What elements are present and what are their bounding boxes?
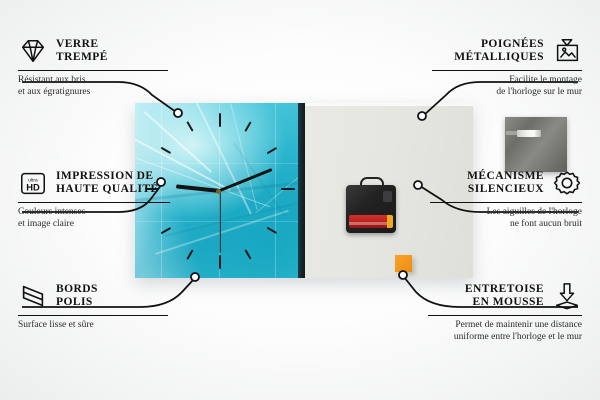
hands-center-pin (216, 189, 221, 194)
feature-desc-line1: Résistant aux bris (18, 75, 86, 85)
gear-icon (552, 168, 582, 198)
feature-desc-line1: Couleurs intenses (18, 207, 85, 217)
divider (432, 70, 582, 71)
ultra-hd-badge-icon: ultra HD (18, 168, 48, 198)
feature-desc-line1: Surface lisse et sûre (18, 320, 94, 330)
divider (18, 315, 168, 316)
diamond-icon (18, 36, 48, 66)
second-hand (219, 191, 220, 253)
wall-mount-bracket-icon (552, 36, 582, 66)
feature-title-line2: TREMPÉ (56, 51, 108, 63)
minute-hand (219, 168, 272, 192)
feature-desc-line2: et image claire (18, 219, 74, 229)
divider (430, 202, 582, 203)
infographic-canvas: VERRE TREMPÉ Résistant aux bris et aux é… (0, 0, 600, 400)
glass-edge (298, 103, 305, 278)
feature-title-line1: POIGNÉES (481, 38, 544, 50)
polished-edge-lines-icon (18, 281, 48, 311)
feature-title-line1: VERRE (56, 38, 99, 50)
svg-text:HD: HD (26, 183, 40, 193)
feature-desc-line2: et aux égratignures (18, 87, 90, 97)
metal-hanging-bracket (505, 117, 567, 172)
feature-title-line2: HAUTE QUALITÉ (56, 183, 159, 195)
mechanism-adjust-knob (383, 191, 392, 202)
feature-mecanisme-silencieux: MÉCANISME SILENCIEUX Les aiguilles de l'… (430, 168, 582, 230)
divider (428, 315, 582, 316)
feature-title-line1: BORDS (56, 283, 98, 295)
feature-title-line2: POLIS (56, 296, 93, 308)
foam-spacer (395, 255, 412, 272)
divider (18, 70, 168, 71)
product-image (135, 103, 473, 278)
hour-hand (176, 184, 220, 193)
feature-desc-line2: uniforme entre l'horloge et le mur (454, 332, 582, 342)
feature-title-line2: EN MOUSSE (473, 296, 544, 308)
feature-impression-haute-qualite: ultra HD IMPRESSION DE HAUTE QUALITÉ Cou… (18, 168, 170, 230)
feature-desc-line2: ne font aucun bruit (510, 219, 582, 229)
foam-spacer-arrow-icon (552, 281, 582, 311)
feature-desc-line1: Permet de maintenir une distance (455, 320, 582, 330)
feature-title-line1: MÉCANISME (467, 170, 544, 182)
divider (18, 202, 170, 203)
feature-title-line2: SILENCIEUX (468, 183, 544, 195)
feature-bords-polis: BORDS POLIS Surface lisse et sûre (18, 281, 168, 332)
feature-desc-line2: de l'horloge sur le mur (496, 87, 582, 97)
feature-title-line2: MÉTALLIQUES (454, 51, 544, 63)
feature-desc-line1: Facilite le montage (509, 75, 582, 85)
feature-title-line1: ENTRETOISE (465, 283, 544, 295)
feature-title-line1: IMPRESSION DE (56, 170, 154, 182)
bracket-slot (517, 130, 541, 137)
feature-desc-line1: Les aiguilles de l'horloge (487, 207, 582, 217)
feature-entretoise-en-mousse: ENTRETOISE EN MOUSSE Permet de maintenir… (428, 281, 582, 343)
feature-verre-trempe: VERRE TREMPÉ Résistant aux bris et aux é… (18, 36, 168, 98)
feature-poignees-metalliques: POIGNÉES MÉTALLIQUES Facilite le montage… (432, 36, 582, 98)
